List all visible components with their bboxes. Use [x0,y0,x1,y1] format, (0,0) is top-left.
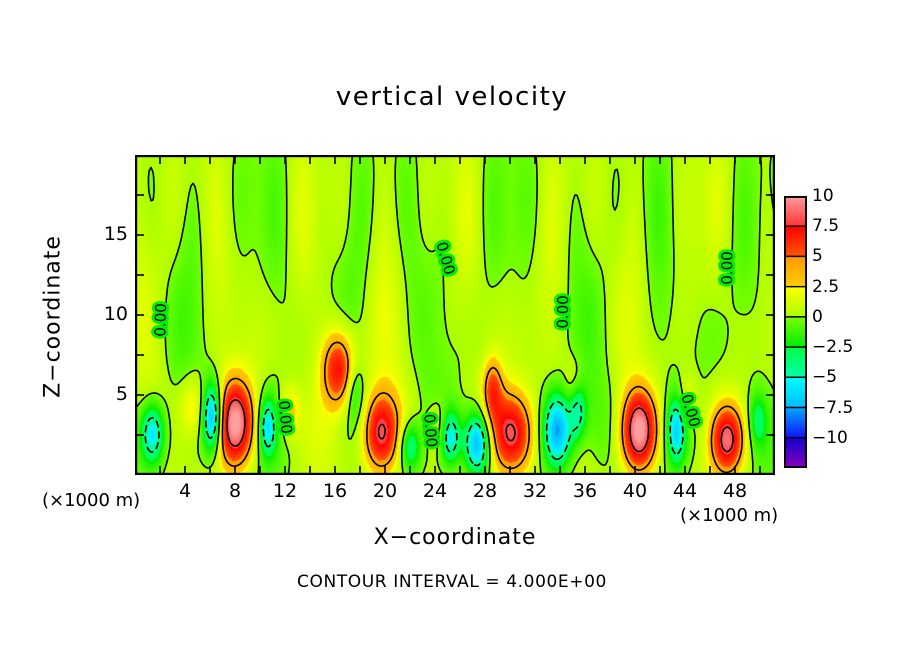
contour-label: 0.00 [151,303,170,337]
y-axis-unit-label: (×1000 m) [42,490,140,511]
contour-label: 0.00 [718,251,736,285]
colorbar-band [784,377,807,407]
contour-label: 0.00 [420,413,441,448]
colorbar-band [784,438,807,468]
colorbar-tick-label: −7.5 [812,398,853,418]
y-tick-label: 5 [90,383,128,405]
colorbar-tick-label: 10 [812,186,834,206]
colorbar-swatches [784,196,807,468]
figure-root: vertical velocity 0.000.000.000.000.000.… [0,0,904,654]
y-tick-label: 10 [90,303,128,325]
x-axis-unit-label: (×1000 m) [680,505,778,526]
colorbar-band [784,226,807,256]
x-tick-label: 48 [705,480,765,502]
y-tick-label: 15 [90,223,128,245]
colorbar-band [784,317,807,347]
colorbar-tick-label: −5 [812,367,837,387]
colorbar-tick-label: 7.5 [812,216,839,236]
contour-label: 0.00 [554,295,573,329]
colorbar-tick-label: −10 [812,428,848,448]
colorbar-band [784,256,807,286]
colorbar-tick-label: 5 [812,246,823,266]
contour-plot-area: 0.000.000.000.000.000.000.000.000.000.00… [135,155,775,475]
colorbar-tick-label: 2.5 [812,277,839,297]
colorbar-tick-label: −2.5 [812,337,853,357]
chart-title: vertical velocity [0,82,904,112]
contour-label: 0.00 [275,400,296,435]
colorbar-band [784,347,807,377]
contour-plot-svg: 0.000.000.000.000.000.000.000.000.000.00… [135,155,775,475]
colorbar [784,196,807,468]
colorbar-band [784,287,807,317]
colorbar-band [784,196,807,226]
y-axis-title: Z−coordinate [41,217,66,417]
contour-interval-note: CONTOUR INTERVAL = 4.000E+00 [0,572,904,592]
x-axis-title: X−coordinate [235,525,675,550]
colorbar-tick-label: 0 [812,307,823,327]
colorbar-band [784,408,807,438]
